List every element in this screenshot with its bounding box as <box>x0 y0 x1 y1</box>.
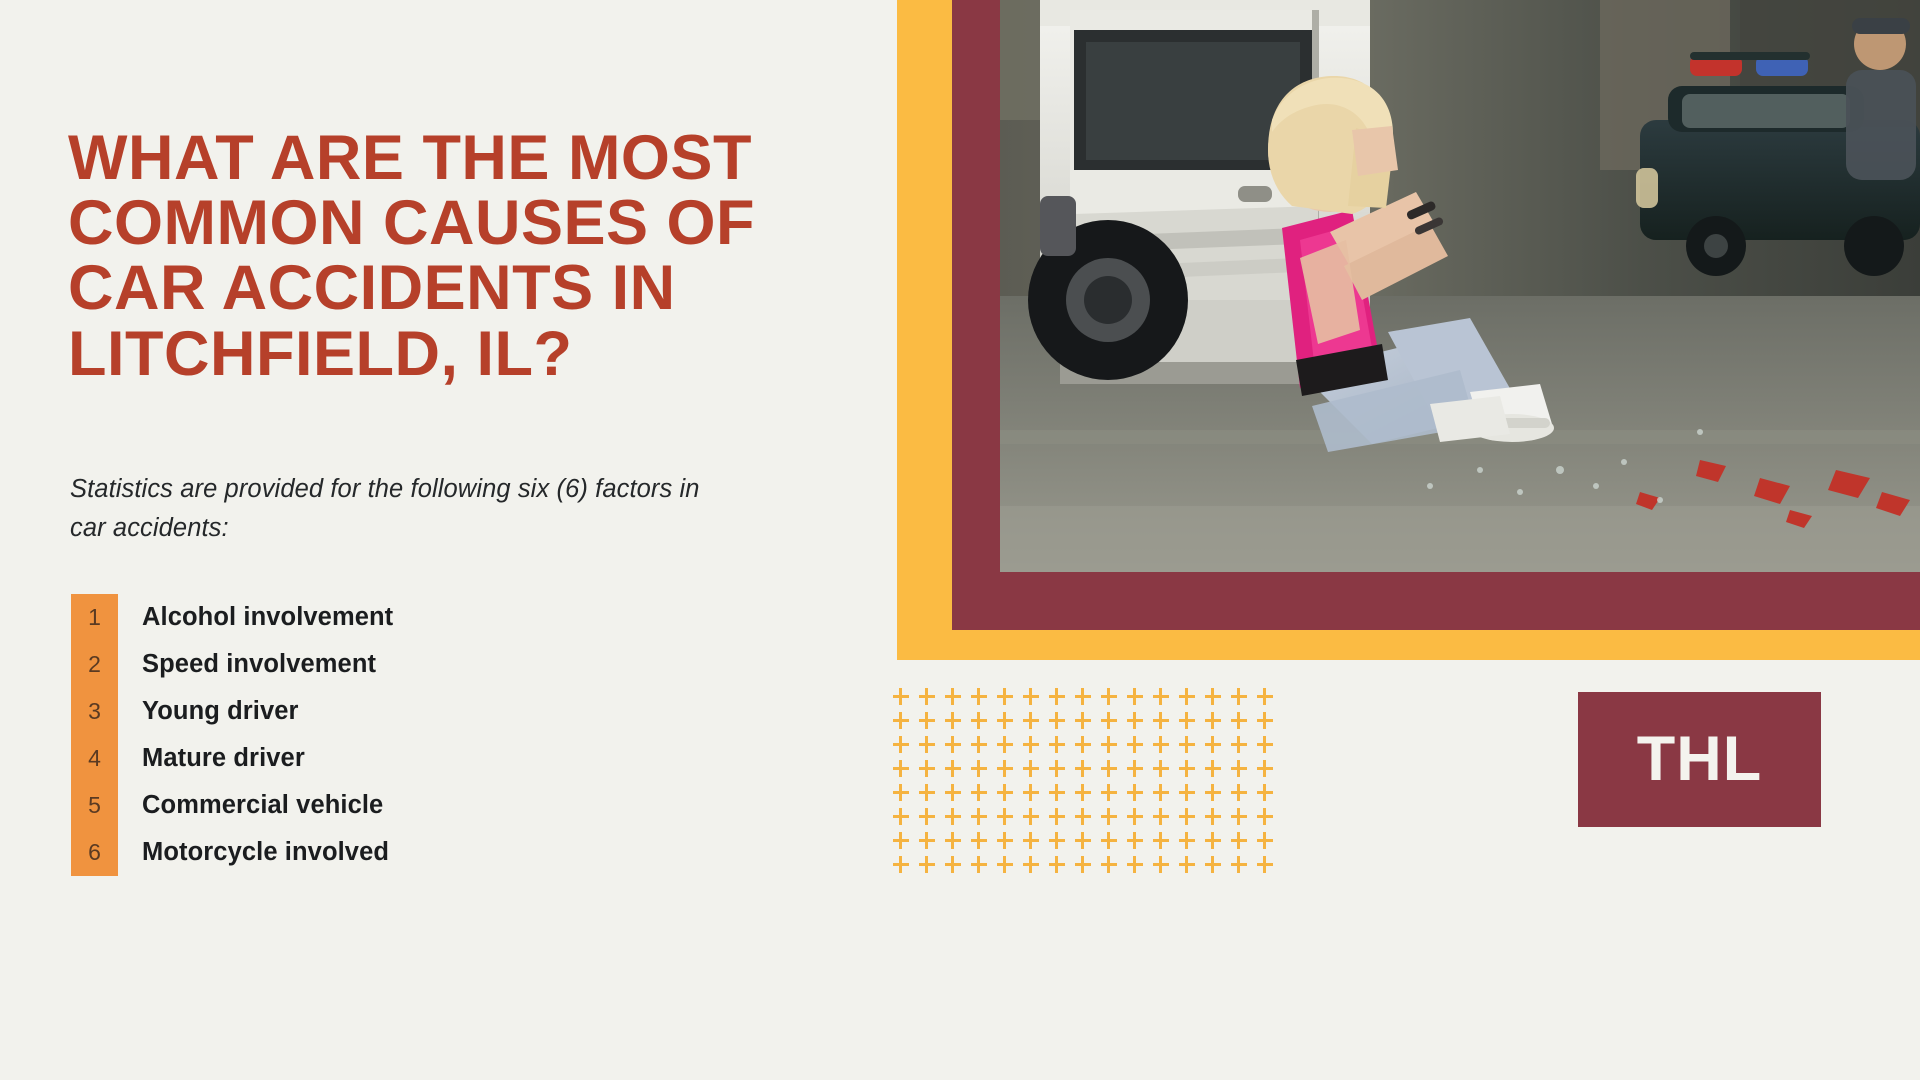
car-accident-photo <box>1000 0 1920 572</box>
list-item: 5 Commercial vehicle <box>71 782 771 829</box>
plus-grid-pattern <box>893 688 1293 873</box>
list-item: 2 Speed involvement <box>71 641 771 688</box>
list-number-badge: 5 <box>71 782 118 829</box>
list-item: 4 Mature driver <box>71 735 771 782</box>
infographic-canvas: WHAT ARE THE MOST COMMON CAUSES OF CAR A… <box>0 0 1920 1080</box>
list-item-label: Speed involvement <box>142 650 376 679</box>
list-number-badge: 2 <box>71 641 118 688</box>
photo-frame <box>897 0 1920 660</box>
thl-logo[interactable]: THL <box>1578 692 1821 827</box>
list-item-label: Young driver <box>142 697 299 726</box>
list-item-label: Mature driver <box>142 744 305 773</box>
list-item-label: Commercial vehicle <box>142 791 383 820</box>
list-item: 3 Young driver <box>71 688 771 735</box>
left-content-column: WHAT ARE THE MOST COMMON CAUSES OF CAR A… <box>68 0 908 1080</box>
list-item-label: Alcohol involvement <box>142 603 393 632</box>
list-number-badge: 6 <box>71 829 118 876</box>
list-number-badge: 4 <box>71 735 118 782</box>
page-title: WHAT ARE THE MOST COMMON CAUSES OF CAR A… <box>68 126 898 387</box>
list-item-label: Motorcycle involved <box>142 838 389 867</box>
list-number-badge: 1 <box>71 594 118 641</box>
list-item: 6 Motorcycle involved <box>71 829 771 876</box>
list-item: 1 Alcohol involvement <box>71 594 771 641</box>
list-number-badge: 3 <box>71 688 118 735</box>
thl-logo-text: THL <box>1637 728 1762 791</box>
subtitle-text: Statistics are provided for the followin… <box>70 470 710 548</box>
factor-list: 1 Alcohol involvement 2 Speed involvemen… <box>71 594 771 876</box>
